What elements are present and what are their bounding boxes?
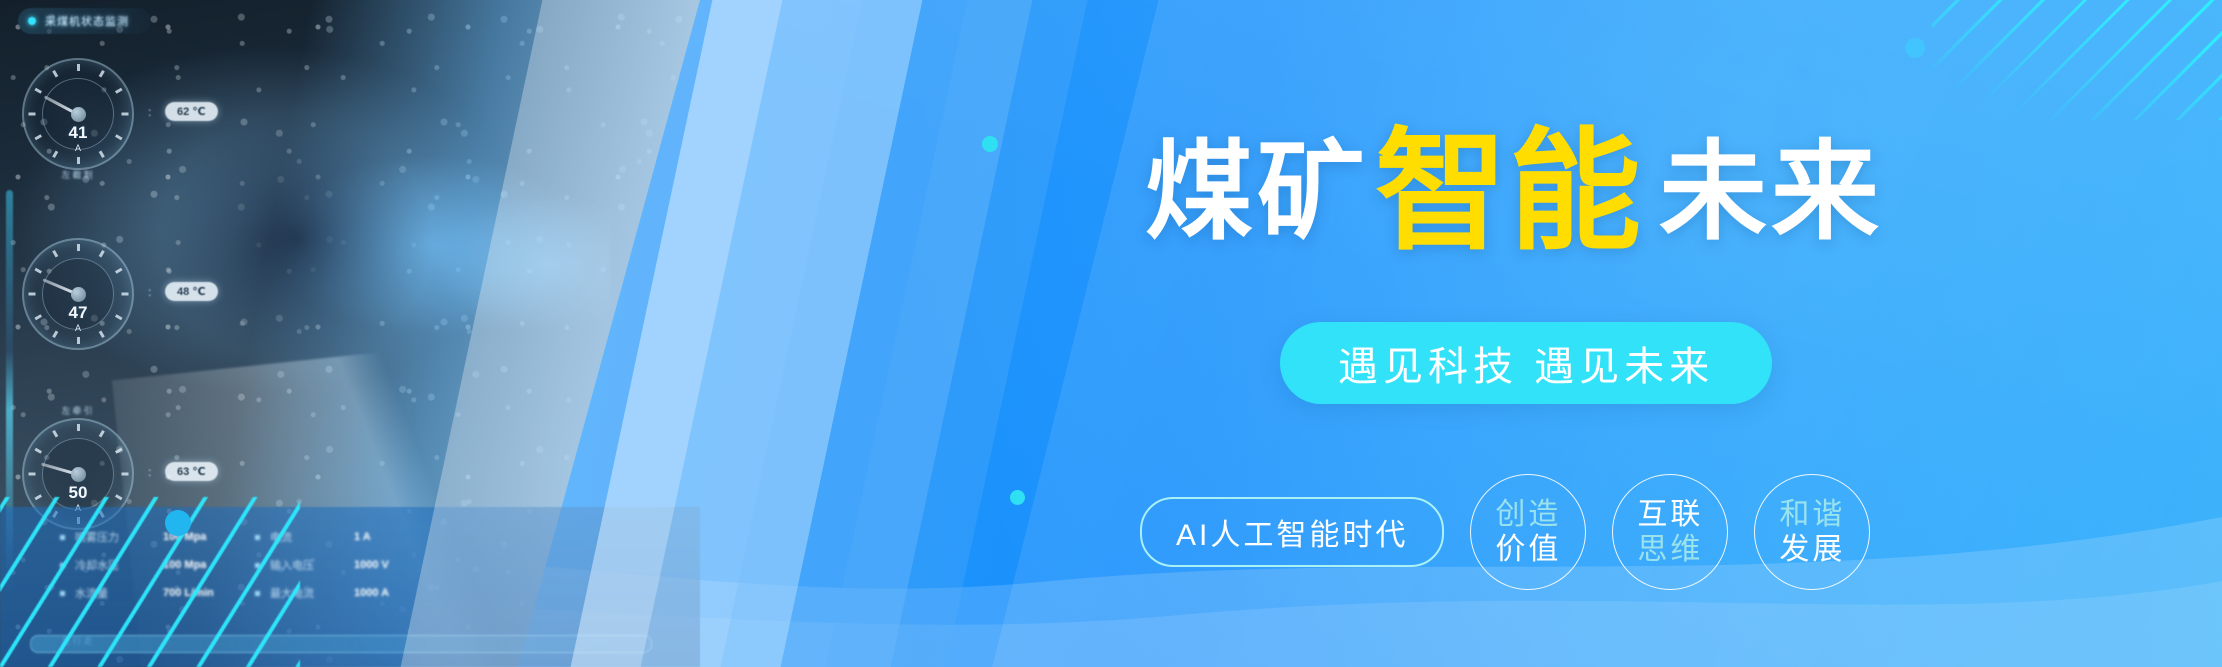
page-title: 煤矿智能未来: [1145, 118, 1883, 250]
badge-line-2: 思维: [1637, 532, 1703, 567]
title-tail: 未来: [1659, 131, 1883, 252]
badge-line-2: 发展: [1779, 532, 1845, 567]
badge-line-1: 创造: [1495, 497, 1561, 532]
subtitle-text: 遇见科技 遇见未来: [1338, 334, 1714, 392]
banner-root: 采煤机状态监测 左截割 41 A : 62 ℃ 左牵引: [0, 0, 2222, 667]
badge-line-1: 互联: [1637, 497, 1703, 532]
badge-row: AI人工智能时代 创造 价值 互联 思维 和谐 发展: [1140, 474, 1870, 590]
title-lead: 煤矿: [1145, 131, 1369, 252]
badge-line-1: 和谐: [1779, 497, 1845, 532]
badge-ai-era[interactable]: AI人工智能时代: [1140, 497, 1444, 567]
badge-line-2: 价值: [1495, 532, 1561, 567]
badge-circle-create-value[interactable]: 创造 价值: [1470, 474, 1586, 590]
content-column: 煤矿智能未来 遇见科技 遇见未来 AI人工智能时代 创造 价值 互联 思维 和谐…: [1100, 0, 2100, 667]
title-accent: 智能: [1375, 118, 1643, 265]
subtitle-pill: 遇见科技 遇见未来: [1280, 322, 1772, 404]
badge-ai-era-label: AI人工智能时代: [1176, 510, 1408, 554]
badge-circle-connected-thinking[interactable]: 互联 思维: [1612, 474, 1728, 590]
badge-circle-harmonious-development[interactable]: 和谐 发展: [1754, 474, 1870, 590]
